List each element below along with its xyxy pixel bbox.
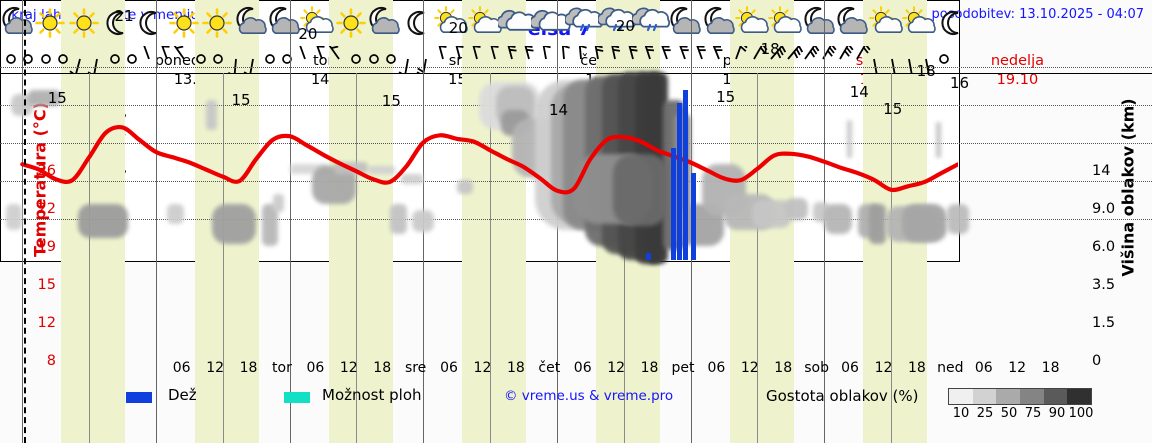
cd-swatch-50 [996,389,1020,404]
precipitation-bar [683,90,688,260]
temperature-value-label: 16 [950,74,960,92]
temperature-value-label: 21 [115,7,134,25]
cloud-density-tick: 25 [972,406,998,421]
x-tick-label: 18 [1031,360,1071,376]
cloud-density-tick: 10 [948,406,974,421]
cloud-density-scale [948,388,1092,405]
precipitation-bar [691,173,696,260]
cloud-tick-3: 3.5 [1092,277,1138,293]
temperature-value-label: 20 [449,19,468,37]
cd-swatch-25 [973,389,997,404]
temperature-value-label: 15 [382,92,401,110]
temperature-value-label: 15 [883,100,902,118]
rain-swatch [126,392,152,403]
cloud-density-tick: 50 [996,406,1022,421]
temperature-value-label: 15 [716,88,735,106]
temperature-value-label: 20 [298,25,317,43]
cd-swatch-10 [949,389,973,404]
cloud-density-tick: 90 [1044,406,1070,421]
temperature-value-label: 15 [232,91,251,109]
precipitation-bar [677,103,682,260]
rain-legend-label: Dež [168,386,197,404]
current-time-line [24,0,26,262]
showers-legend-label: Možnost ploh [322,386,422,404]
temperature-value-label: 15 [48,89,67,107]
cloud-height-axis-title: Višina oblakov (km) [1119,88,1138,288]
temperature-value-label: 14 [850,83,869,101]
cloud-density-tick: 100 [1068,406,1094,421]
chart-legend: Dež Možnost ploh © vreme.us & vreme.pro … [126,386,1136,426]
copyright-link[interactable]: © vreme.us & vreme.pro [504,388,673,404]
x-axis-labels: 061218tor061218sre061218čet061218pet0612… [126,360,1086,380]
cd-swatch-75 [1020,389,1044,404]
precipitation-bar [646,253,651,260]
cloud-tick-0: 14 [1092,163,1138,179]
forecast-plot[interactable]: 1521152015201420151814151816 [0,0,960,262]
temperature-value-label: 14 [549,101,568,119]
precipitation-bar [671,148,676,260]
temperature-value-label: 20 [616,17,635,35]
cloud-tick-1: 9.0 [1092,201,1138,217]
temperature-value-label: 18 [761,40,780,58]
cloud-tick-2: 6.0 [1092,239,1138,255]
cloud-tick-4: 1.5 [1092,315,1138,331]
temperature-value-label: 18 [917,62,936,80]
cloud-density-scale-ticks: 1025507590100 [938,406,1108,422]
showers-swatch [284,392,310,403]
cloud-density-legend-title: Gostota oblakov (%) [766,387,919,405]
cd-swatch-90 [1044,389,1068,404]
cloud-tick-5: 0 [1092,353,1138,369]
cd-swatch-100 [1067,389,1091,404]
cloud-density-tick: 75 [1020,406,1046,421]
